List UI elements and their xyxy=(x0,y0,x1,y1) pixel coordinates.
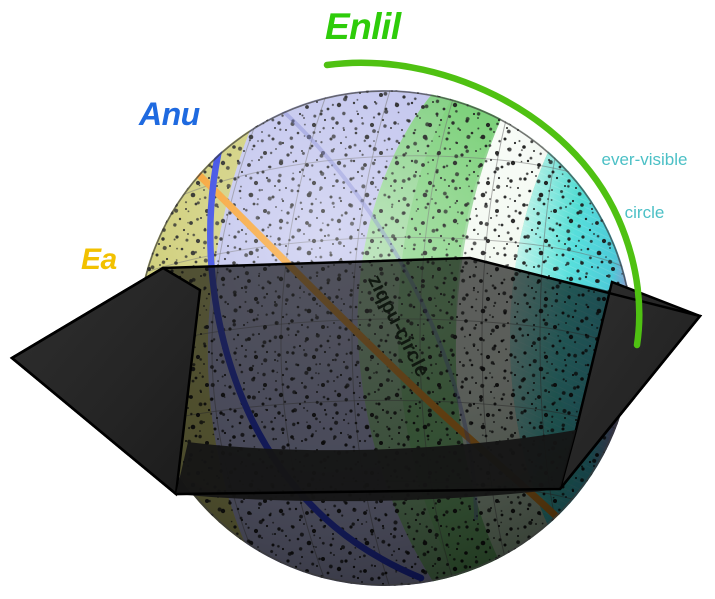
ever-visible-line-1: ever-visible xyxy=(582,151,707,169)
celestial-sphere-diagram xyxy=(0,0,715,599)
label-anu: Anu xyxy=(139,98,200,132)
ever-visible-line-2: circle xyxy=(582,204,707,222)
label-ea: Ea xyxy=(81,244,117,276)
label-enlil: Enlil xyxy=(325,8,401,47)
label-ever-visible-circle: ever-visible circle xyxy=(582,115,707,258)
figure-canvas: Enlil Anu Ea ever-visible circle ziqpu-c… xyxy=(0,0,715,599)
